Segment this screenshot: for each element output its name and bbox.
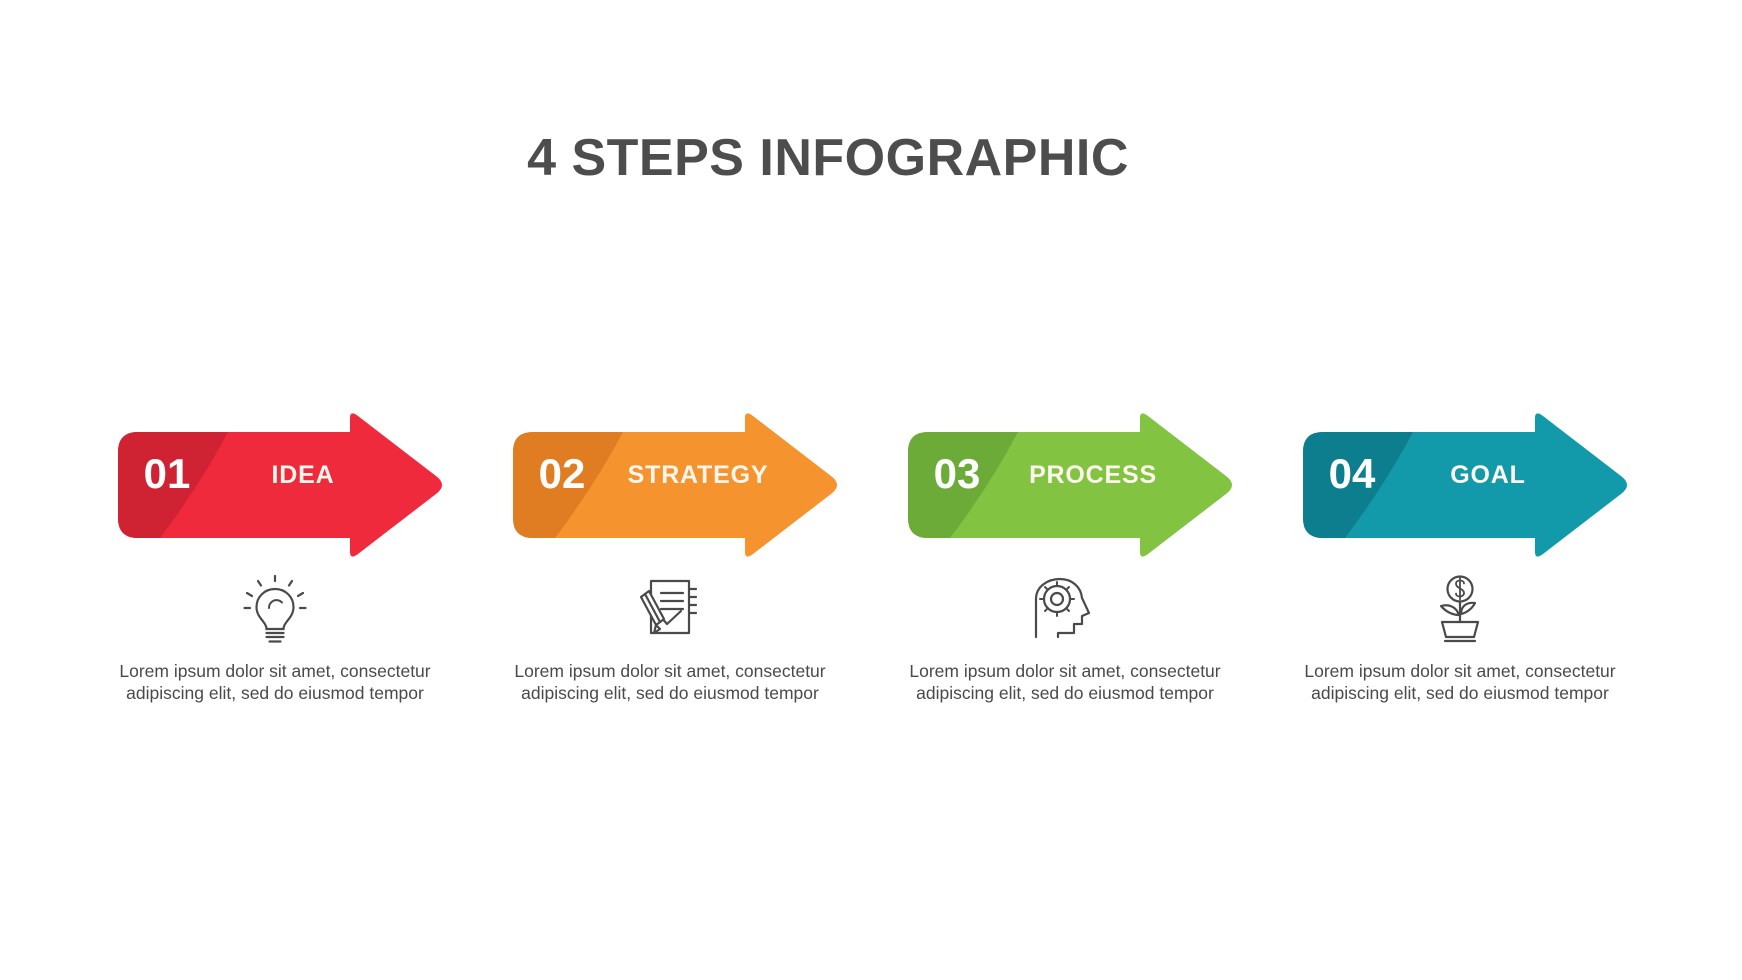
- step-icon-box-3: [890, 570, 1240, 650]
- step-arrow-3[interactable]: 03 PROCESS: [890, 410, 1240, 560]
- money-plant-icon: [1427, 575, 1493, 645]
- step-description-1: Lorem ipsum dolor sit amet, consectetur …: [110, 660, 440, 704]
- page-title: 4 STEPS INFOGRAPHIC: [0, 128, 1742, 188]
- arrow-shape-2: [495, 410, 845, 560]
- infographic-page: 4 STEPS INFOGRAPHIC 01 IDEA: [0, 0, 1742, 980]
- steps-row: 01 IDEA: [0, 410, 1742, 830]
- step-description-3: Lorem ipsum dolor sit amet, consectetur …: [900, 660, 1230, 704]
- page-title-text: 4 STEPS INFOGRAPHIC: [527, 128, 1129, 188]
- step-item-3[interactable]: 03 PROCESS: [890, 410, 1240, 830]
- arrow-shape-4: [1285, 410, 1635, 560]
- step-arrow-2[interactable]: 02 STRATEGY: [495, 410, 845, 560]
- step-arrow-4[interactable]: 04 GOAL: [1285, 410, 1635, 560]
- step-item-1[interactable]: 01 IDEA: [100, 410, 450, 830]
- lightbulb-icon: [242, 575, 308, 645]
- step-item-2[interactable]: 02 STRATEGY: [495, 410, 845, 830]
- arrow-shape-1: [100, 410, 450, 560]
- notepad-pen-icon: [637, 575, 703, 645]
- step-description-4: Lorem ipsum dolor sit amet, consectetur …: [1295, 660, 1625, 704]
- step-item-4[interactable]: 04 GOAL Lorem ipsum: [1285, 410, 1635, 830]
- step-arrow-1[interactable]: 01 IDEA: [100, 410, 450, 560]
- head-gear-icon: [1032, 575, 1098, 645]
- step-icon-box-2: [495, 570, 845, 650]
- step-icon-box-4: [1285, 570, 1635, 650]
- arrow-shape-3: [890, 410, 1240, 560]
- step-description-2: Lorem ipsum dolor sit amet, consectetur …: [505, 660, 835, 704]
- step-icon-box-1: [100, 570, 450, 650]
